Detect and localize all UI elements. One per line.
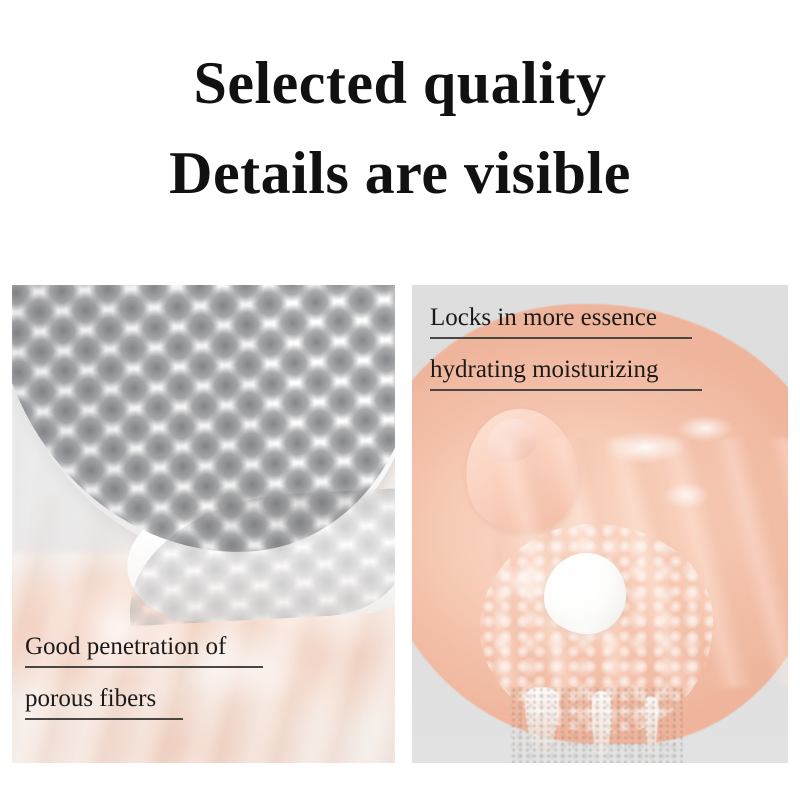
caption-porous-fibers: Good penetration of porous fibers (25, 632, 263, 736)
panel-locks-in-essence: Locks in more essence hydrating moisturi… (412, 285, 788, 763)
panel-porous-fibers: Good penetration of porous fibers (12, 285, 395, 763)
caption-line: hydrating moisturizing (430, 355, 702, 391)
headline-line-1: Selected quality (0, 38, 800, 128)
caption-underline (430, 389, 702, 391)
feature-panels: Good penetration of porous fibers (12, 285, 788, 763)
caption-text: Locks in more essence (430, 303, 702, 333)
caption-text: hydrating moisturizing (430, 355, 702, 385)
caption-underline (25, 666, 263, 668)
caption-underline (25, 718, 183, 720)
caption-line: Good penetration of (25, 632, 263, 668)
product-marketing-page: { "headline": { "lines": [ "Selected qua… (0, 0, 800, 800)
caption-text: Good penetration of (25, 632, 263, 662)
caption-underline (430, 337, 692, 339)
caption-line: Locks in more essence (430, 303, 702, 339)
caption-line: porous fibers (25, 684, 263, 720)
headline-line-2: Details are visible (0, 128, 800, 218)
drip-bubble-texture-layer (510, 687, 683, 763)
caption-text: porous fibers (25, 684, 263, 714)
page-title: Selected quality Details are visible (0, 38, 800, 218)
caption-locks-in-essence: Locks in more essence hydrating moisturi… (430, 303, 702, 407)
